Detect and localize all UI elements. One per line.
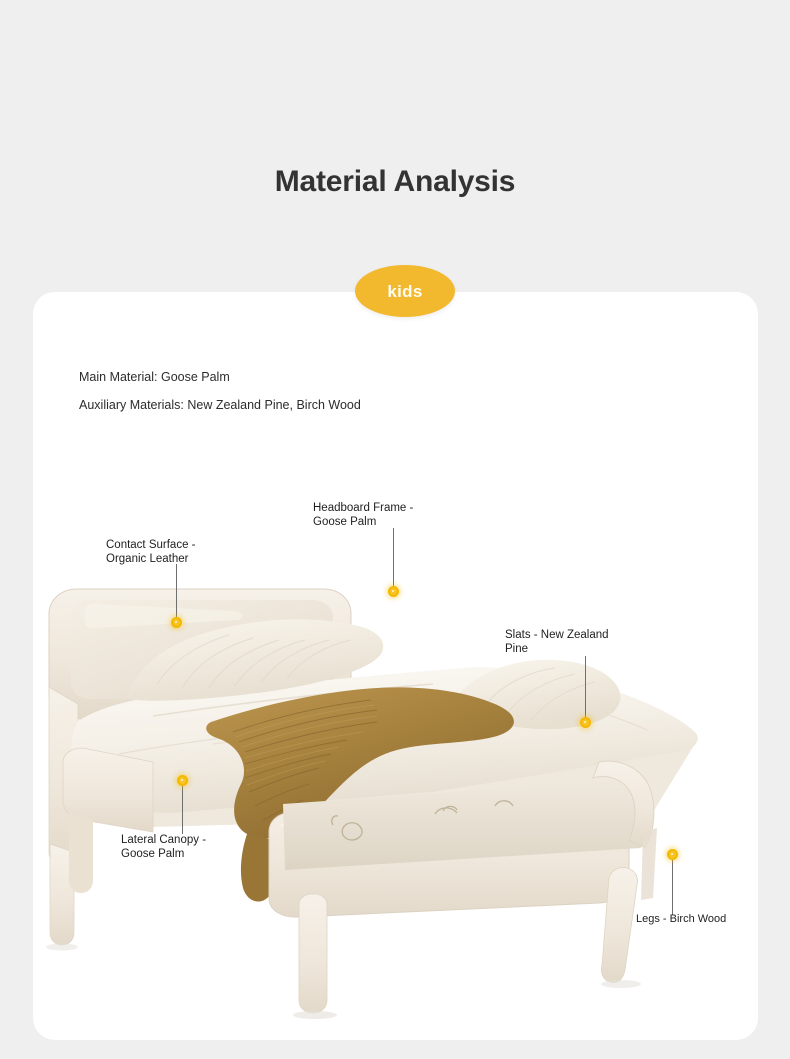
callout-label-lateral-canopy: Lateral Canopy - Goose Palm [121,833,206,861]
leader-line-legs [672,860,673,915]
callout-label-legs: Legs - Birch Wood [636,913,726,926]
leader-line-lateral-canopy [182,786,183,834]
product-photo-bed: Contact Surface - Organic Leather Headbo… [33,292,758,1040]
callout-label-slats: Slats - New Zealand Pine [505,628,609,656]
kids-badge: kids [355,265,455,317]
leader-dot-contact-surface [171,617,182,628]
leader-line-slats [585,656,586,722]
content-card: Main Material: Goose Palm Auxiliary Mate… [33,292,758,1040]
leader-dot-legs [667,849,678,860]
leader-dot-headboard-frame [388,586,399,597]
leader-line-headboard-frame [393,528,394,590]
page-title: Material Analysis [0,165,790,199]
leader-dot-slats [580,717,591,728]
callout-label-contact-surface: Contact Surface - Organic Leather [106,538,195,566]
kids-badge-label: kids [387,283,422,300]
bed-drawing [33,292,758,1040]
leader-dot-lateral-canopy [177,775,188,786]
leader-line-contact-surface [176,564,177,622]
callout-label-headboard-frame: Headboard Frame - Goose Palm [313,501,413,529]
